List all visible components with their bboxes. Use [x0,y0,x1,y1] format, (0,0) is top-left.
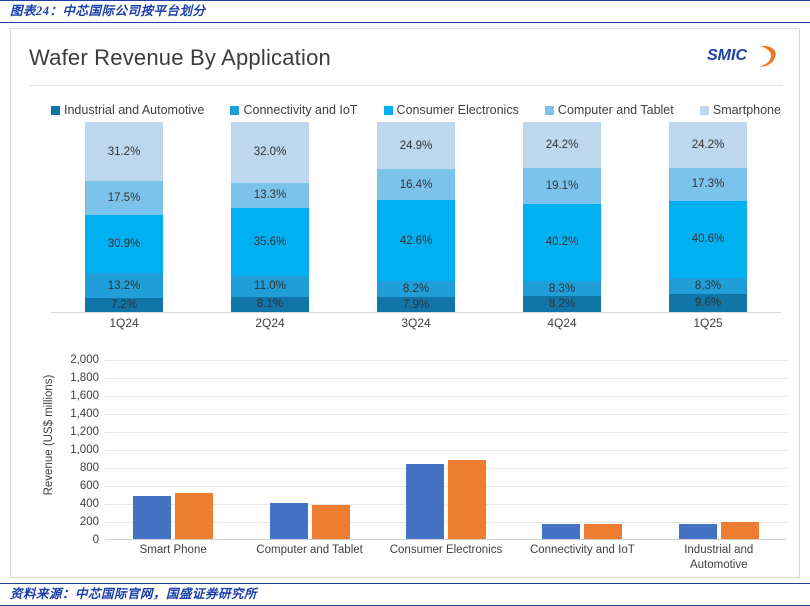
bar-4q24 [270,503,308,539]
x-tick-label: 1Q24 [85,316,163,334]
stacked-bar-plot: 31.2%17.5%30.9%13.2%7.2%32.0%13.3%35.6%1… [51,122,781,312]
stacked-chart-axis-line [51,312,781,313]
legend-label-consumer-electronics: Consumer Electronics [397,103,519,117]
stacked-bar-2q24[interactable]: 32.0%13.3%35.6%11.0%8.1% [231,122,309,312]
stack-segment: 8.2% [377,281,455,297]
stacked-bar-1q25[interactable]: 24.2%17.3%40.6%8.3%9.6% [669,122,747,312]
stacked-chart-x-labels: 1Q242Q243Q244Q241Q25 [51,316,781,334]
stack-segment: 35.6% [231,208,309,276]
stack-segment: 30.9% [85,215,163,274]
bar-1q25 [584,524,622,539]
bar-4q24 [406,464,444,539]
stacked-bar-3q24[interactable]: 24.9%16.4%42.6%8.2%7.9% [377,122,455,312]
legend-label-connectivity-and-iot: Connectivity and IoT [243,103,357,117]
bar-group[interactable] [386,360,506,539]
legend-item-consumer-electronics[interactable]: Consumer Electronics [384,103,519,117]
stack-segment: 8.2% [523,296,601,312]
source-note: 资料来源：中芯国际官网，国盛证券研究所 [0,584,810,604]
header-band: 图表24：中芯国际公司按平台划分 [0,0,810,23]
x-tick-label: 4Q24 [523,316,601,334]
bar-1q25 [448,460,486,539]
legend-label-computer-and-tablet: Computer and Tablet [558,103,674,117]
footer-band: 资料来源：中芯国际官网，国盛证券研究所 [0,583,810,606]
x-tick-label: Smart Phone [113,543,233,573]
stack-segment: 24.2% [669,122,747,168]
stack-segment: 8.3% [669,278,747,294]
legend-item-smartphone[interactable]: Smartphone [700,103,781,117]
x-tick-label: Connectivity and IoT [522,543,642,573]
legend-swatch-computer-and-tablet [545,106,554,115]
x-tick-label: Computer and Tablet [250,543,370,573]
stack-segment: 32.0% [231,122,309,183]
bar-group[interactable] [113,360,233,539]
y-axis-ticks: 2,0001,8001,6001,4001,2001,0008006004002… [47,360,99,540]
stacked-bar-4q24[interactable]: 24.2%19.1%40.2%8.3%8.2% [523,122,601,312]
x-axis-line [105,539,787,540]
legend-label-industrial-and-automotive: Industrial and Automotive [64,103,204,117]
stack-segment: 7.2% [85,298,163,312]
stacked-chart-legend: Industrial and Automotive Connectivity a… [51,103,781,117]
y-tick-label: 2,000 [47,354,99,366]
grouped-plot-area [105,360,787,540]
bar-1q25 [721,522,759,539]
bar-groups [105,360,787,539]
y-tick-label: 1,800 [47,372,99,384]
stack-segment: 17.3% [669,168,747,201]
x-tick-label: Industrial and Automotive [659,543,779,573]
y-tick-label: 400 [47,498,99,510]
legend-swatch-smartphone [700,106,709,115]
bar-1q25 [175,493,213,539]
smic-logo: SMIC [703,41,785,73]
y-tick-label: 800 [47,462,99,474]
legend-swatch-connectivity-and-iot [230,106,239,115]
title-divider [29,85,783,86]
chart-panel: Wafer Revenue By Application SMIC Indust… [10,28,800,578]
stack-segment: 8.3% [523,281,601,297]
x-tick-label: 3Q24 [377,316,455,334]
stack-segment: 13.2% [85,273,163,298]
svg-text:SMIC: SMIC [707,47,747,64]
stack-segment: 40.2% [523,204,601,280]
legend-label-smartphone: Smartphone [713,103,781,117]
y-tick-label: 1,600 [47,390,99,402]
bar-group[interactable] [250,360,370,539]
stack-segment: 7.9% [377,297,455,312]
stacked-bar-1q24[interactable]: 31.2%17.5%30.9%13.2%7.2% [85,122,163,312]
page-title: Wafer Revenue By Application [29,45,331,71]
stack-segment: 9.6% [669,294,747,312]
grouped-bar-chart: Revenue (US$ millions) 2,0001,8001,6001,… [11,339,801,579]
y-tick-label: 600 [47,480,99,492]
stack-segment: 40.6% [669,201,747,278]
x-tick-label: 1Q25 [669,316,747,334]
legend-swatch-consumer-electronics [384,106,393,115]
bar-4q24 [542,524,580,539]
y-tick-label: 0 [47,534,99,546]
bar-1q25 [312,505,350,539]
bar-4q24 [679,524,717,539]
figure-caption: 图表24：中芯国际公司按平台划分 [0,1,810,21]
stack-segment: 24.9% [377,122,455,169]
stack-segment: 8.1% [231,297,309,312]
x-tick-label: 2Q24 [231,316,309,334]
stack-segment: 31.2% [85,122,163,181]
legend-item-connectivity-and-iot[interactable]: Connectivity and IoT [230,103,357,117]
x-tick-label: Consumer Electronics [386,543,506,573]
y-tick-label: 200 [47,516,99,528]
bar-group[interactable] [659,360,779,539]
y-tick-label: 1,400 [47,408,99,420]
legend-item-computer-and-tablet[interactable]: Computer and Tablet [545,103,674,117]
stack-segment: 11.0% [231,276,309,297]
stack-segment: 24.2% [523,122,601,168]
stack-segment: 42.6% [377,200,455,281]
legend-swatch-industrial-and-automotive [51,106,60,115]
grouped-chart-x-labels: Smart PhoneComputer and TabletConsumer E… [105,543,787,573]
bar-4q24 [133,496,171,539]
y-tick-label: 1,200 [47,426,99,438]
stack-segment: 16.4% [377,169,455,200]
legend-item-industrial-and-automotive[interactable]: Industrial and Automotive [51,103,204,117]
stack-segment: 19.1% [523,168,601,204]
bar-group[interactable] [522,360,642,539]
stack-segment: 13.3% [231,183,309,208]
stack-segment: 17.5% [85,181,163,214]
y-tick-label: 1,000 [47,444,99,456]
